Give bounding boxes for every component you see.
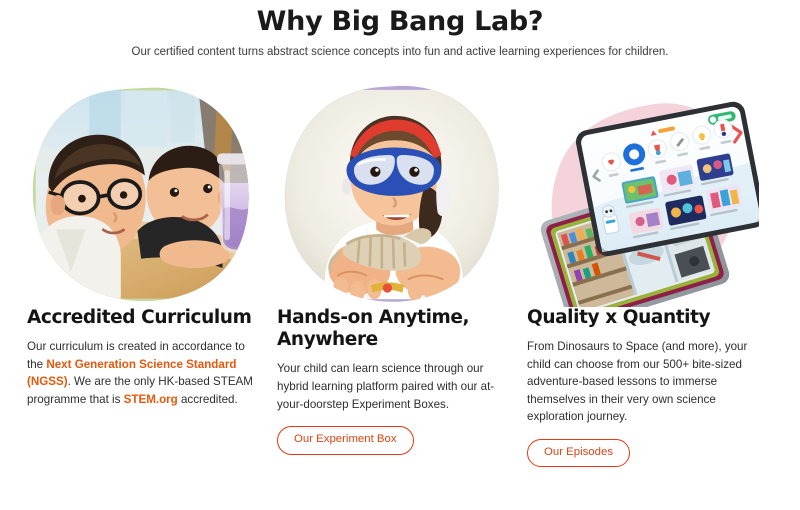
feature-columns: Accredited Curriculum Our curriculum is … [0,82,800,502]
inline-link[interactable]: Next Generation Science Standard (NGSS) [27,358,236,389]
our-experiment-box-button[interactable]: Our Experiment Box [277,426,414,454]
feature-body-quality-x-quantity: From Dinosaurs to Space (and more), your… [527,338,759,426]
page-subtitle: Our certified content turns abstract sci… [0,46,800,58]
feature-title-accredited-curriculum: Accredited Curriculum [27,307,259,329]
feature-column-accredited-curriculum: Accredited Curriculum Our curriculum is … [27,82,259,421]
feature-column-hands-on-anytime-anywhere: Hands-on Anytime, Anywhere Your child ca… [277,82,509,455]
our-episodes-button[interactable]: Our Episodes [527,439,630,467]
feature-title-hands-on-anytime-anywhere: Hands-on Anytime, Anywhere [277,307,509,351]
feature-button-slot-1: Our Experiment Box [277,426,509,454]
feature-image-quality-x-quantity [527,82,759,307]
page-title: Why Big Bang Lab? [0,6,800,37]
feature-image-hands-on-anytime-anywhere [277,82,509,307]
blob-mask-purple [277,82,509,307]
blob-mask-pink [527,82,759,307]
why-big-bang-lab-section: Why Big Bang Lab? Our certified content … [0,0,800,510]
feature-title-quality-x-quantity: Quality x Quantity [527,307,759,329]
inline-link[interactable]: STEM.org [124,393,178,406]
feature-body-accredited-curriculum: Our curriculum is created in accordance … [27,338,259,408]
feature-column-quality-x-quantity: Quality x Quantity From Dinosaurs to Spa… [527,82,759,467]
feature-body-hands-on-anytime-anywhere: Your child can learn science through our… [277,360,509,413]
feature-button-slot-2: Our Episodes [527,439,759,467]
feature-image-accredited-curriculum [27,82,259,307]
blob-mask-green [27,82,259,307]
